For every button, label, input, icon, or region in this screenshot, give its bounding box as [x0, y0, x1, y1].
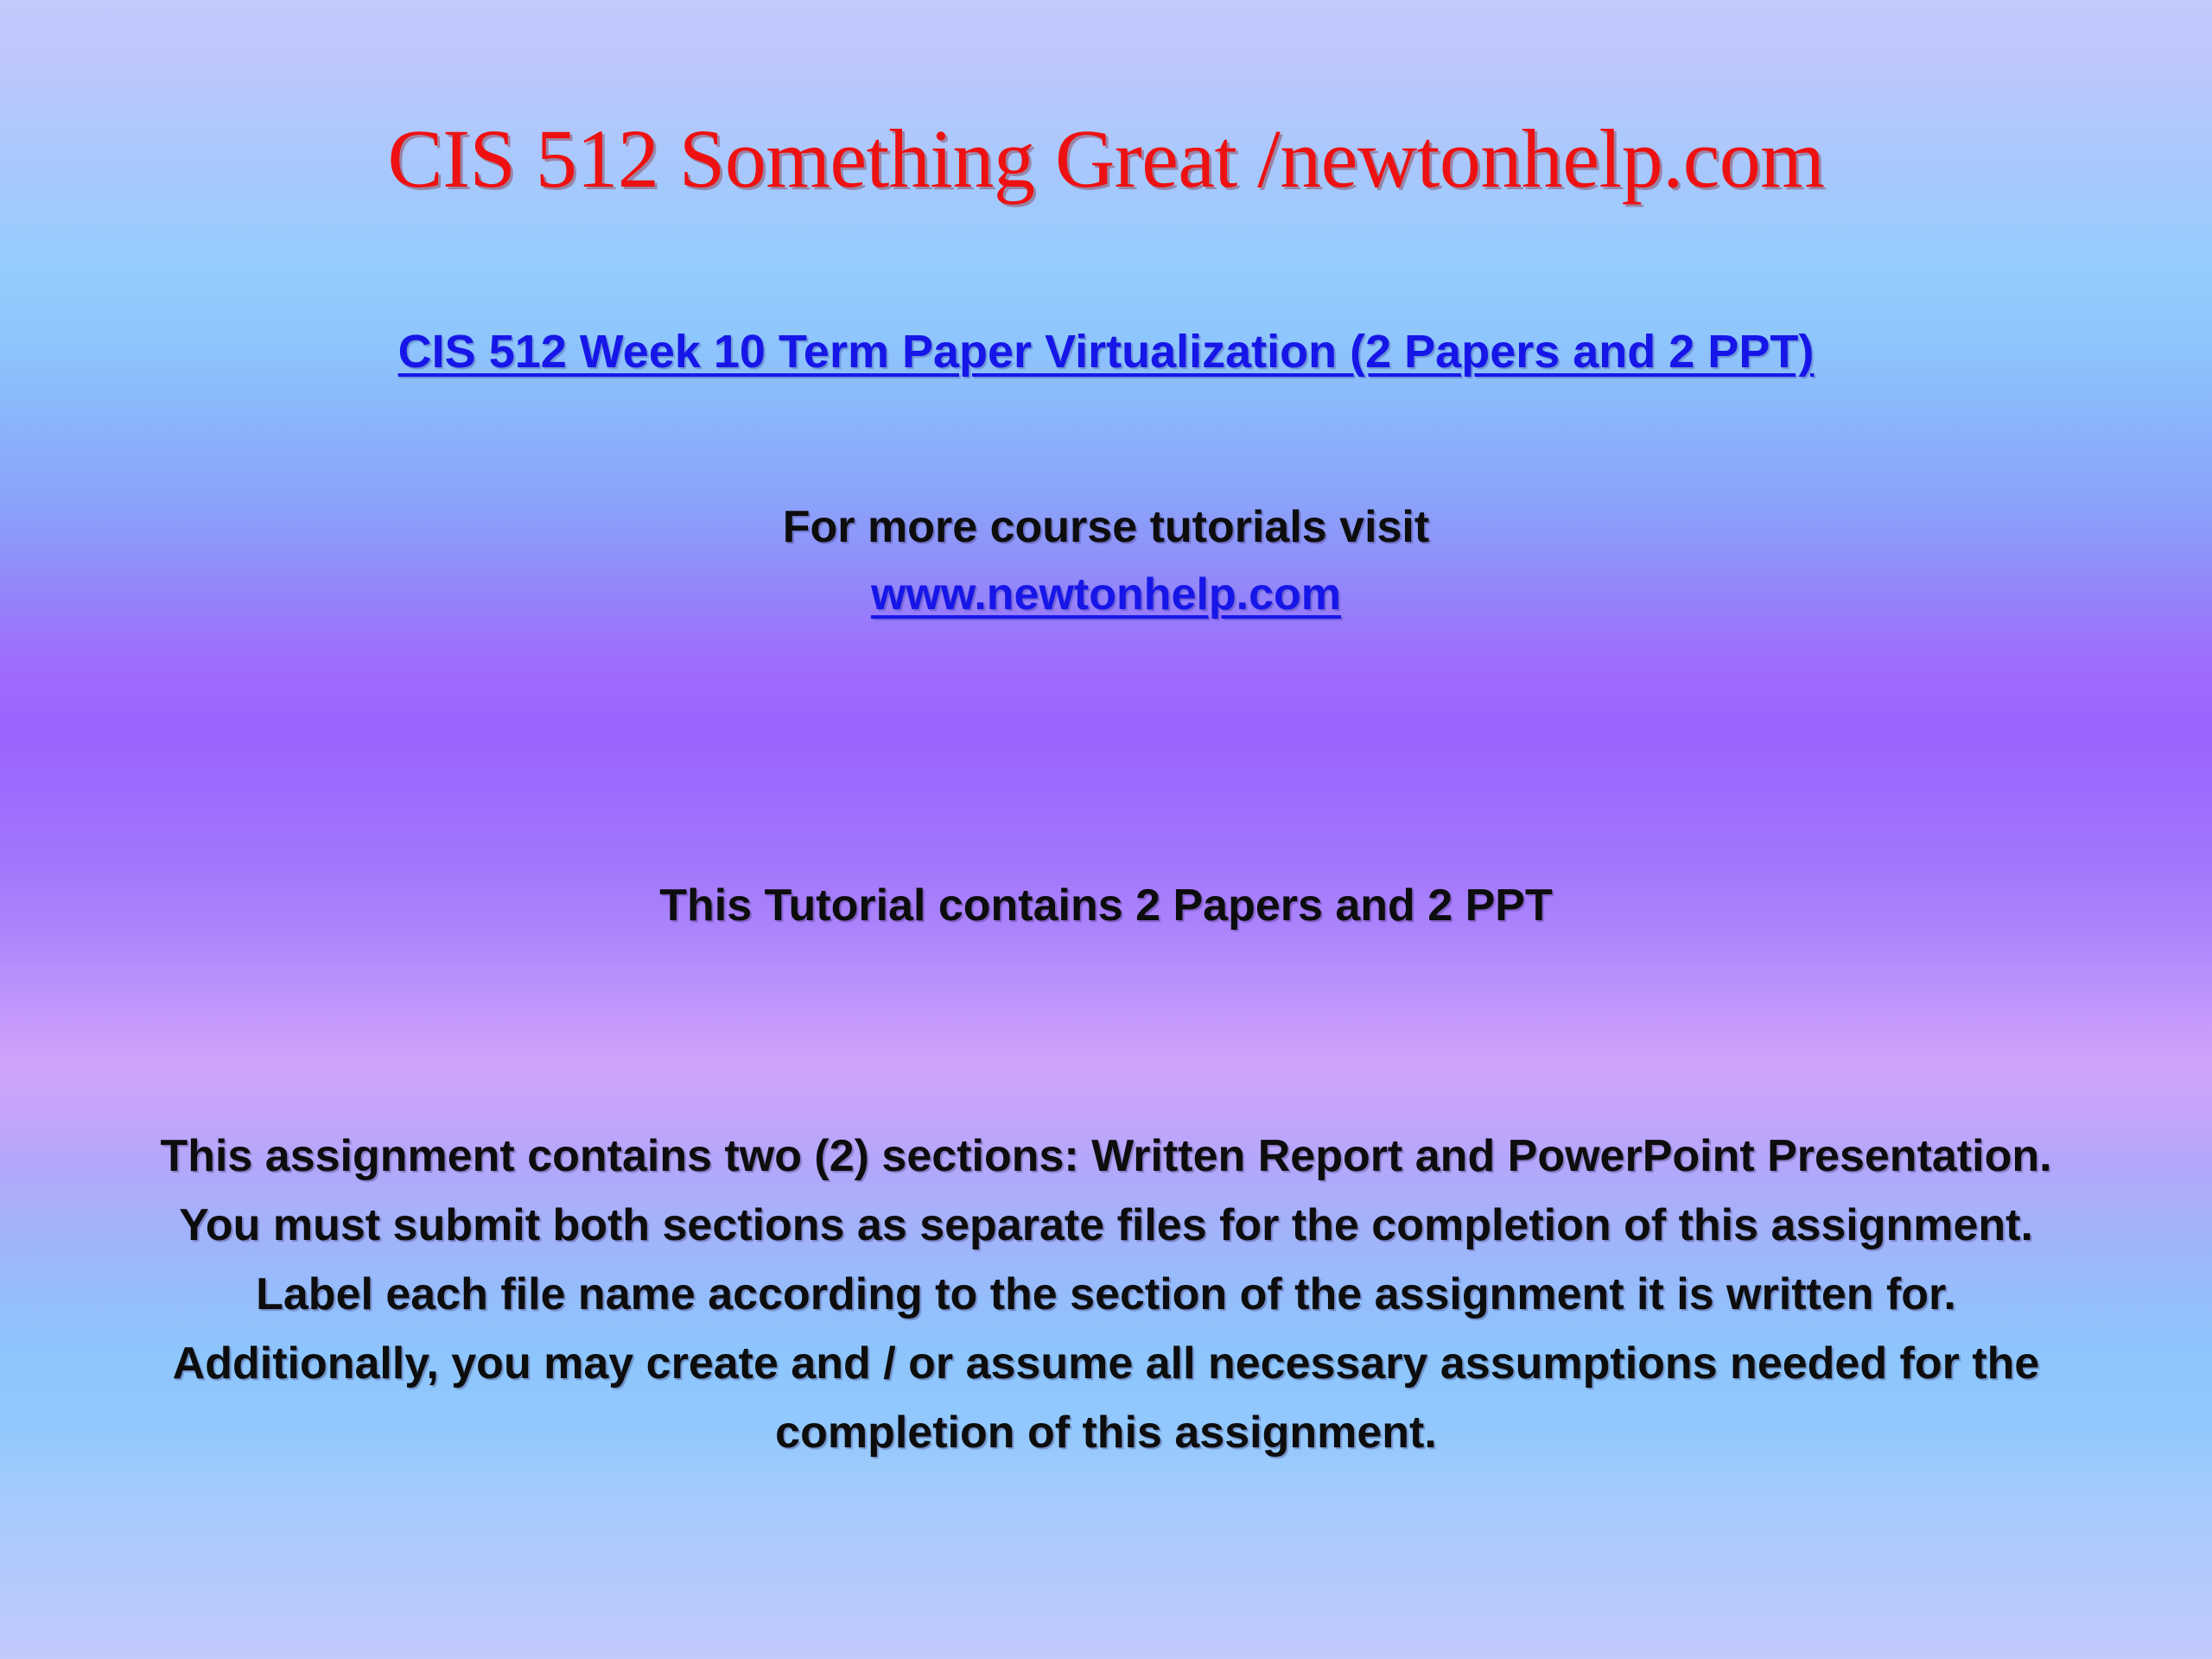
- presentation-slide: CIS 512 Something Great /newtonhelp.com …: [0, 0, 2212, 1659]
- paragraph-line: completion of this assignment.: [69, 1398, 2143, 1467]
- slide-body: CIS 512 Week 10 Term Paper Virtualizatio…: [0, 0, 2212, 1659]
- website-hyperlink[interactable]: www.newtonhelp.com: [871, 569, 1341, 620]
- headline-link-row: CIS 512 Week 10 Term Paper Virtualizatio…: [0, 327, 2212, 378]
- tutorials-visit-text: For more course tutorials visit: [0, 501, 2212, 553]
- paragraph-line: Additionally, you may create and / or as…: [69, 1329, 2143, 1398]
- paragraph-line: You must submit both sections as separat…: [69, 1191, 2143, 1260]
- tutorial-contents-text: This Tutorial contains 2 Papers and 2 PP…: [0, 880, 2212, 931]
- assignment-description-paragraph: This assignment contains two (2) section…: [69, 1122, 2143, 1467]
- paragraph-line: This assignment contains two (2) section…: [69, 1122, 2143, 1191]
- paragraph-line: Label each file name according to the se…: [69, 1260, 2143, 1329]
- site-link-row: www.newtonhelp.com: [0, 570, 2212, 620]
- headline-hyperlink[interactable]: CIS 512 Week 10 Term Paper Virtualizatio…: [398, 326, 1815, 378]
